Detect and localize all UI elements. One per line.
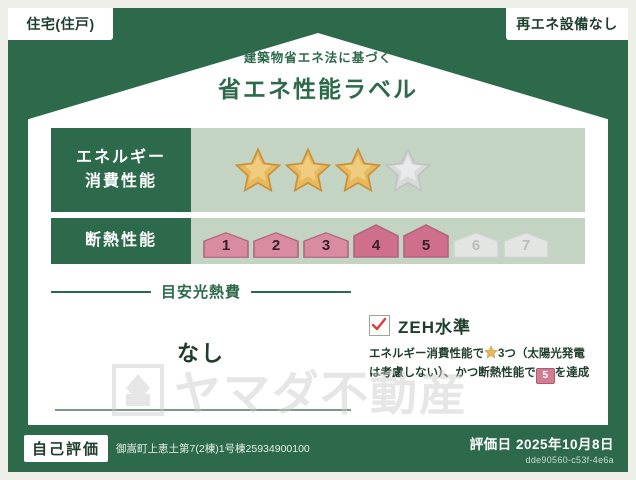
checkmark-icon [369, 315, 390, 336]
title-subtitle: 建築物省エネ法に基づく [28, 47, 608, 66]
performance-rows: エネルギー 消費性能 断熱性能 1234567 [51, 128, 585, 270]
zeh-desc-part2: は考慮しない）、かつ断熱性能で [369, 367, 536, 379]
evaluation-date: 評価日 2025年10月8日 [470, 433, 614, 453]
star-filled-icon [235, 147, 281, 193]
evaluation-hash: dde90560-c53f-4e6a [470, 455, 614, 465]
divider-right [251, 291, 351, 293]
evaluation-info: 評価日 2025年10月8日 dde90560-c53f-4e6a [470, 433, 614, 465]
utility-cost-heading-text: 目安光熱費 [151, 281, 251, 302]
zeh-desc-part3: を達成 [555, 367, 590, 379]
label-card: 住宅(住戸) 再エネ設備なし 建築物省エネ法に基づく 省エネ性能ラベル エネルギ… [8, 8, 628, 472]
star-empty-icon [385, 147, 431, 193]
zeh-description: エネルギー消費性能で 3つ（太陽光発電 は考慮しない）、かつ断熱性能で5を達成 [369, 345, 608, 384]
star-filled-icon [285, 147, 331, 193]
insulation-performance-label: 断熱性能 [51, 218, 191, 264]
insulation-scale: 1234567 [191, 218, 585, 264]
star-rating [191, 128, 585, 212]
building-type-tag: 住宅(住戸) [8, 8, 113, 40]
page-title: 省エネ性能ラベル [28, 70, 608, 104]
zeh-title: ZEH水準 [398, 313, 471, 338]
zeh-desc-starcount: 3つ（太陽光発電 [498, 348, 585, 360]
insulation-level-3: 3 [303, 232, 349, 258]
insulation-label-text: 断熱性能 [85, 229, 157, 253]
energy-label-line1: エネルギー [76, 146, 166, 170]
utility-cost-rule [55, 409, 351, 411]
zeh-desc-part1: エネルギー消費性能で [369, 348, 484, 360]
insulation-level-4: 4 [353, 224, 399, 258]
energy-consumption-label: エネルギー 消費性能 [51, 128, 191, 212]
inline-star-icon [484, 345, 498, 359]
lower-section: 目安光熱費 なし ZEH水準 エネルギー消費 [51, 281, 585, 421]
title-block: 建築物省エネ法に基づく 省エネ性能ラベル [28, 47, 608, 104]
energy-consumption-row: エネルギー 消費性能 [51, 128, 585, 212]
insulation-level-1: 1 [203, 232, 249, 258]
insulation-level-5: 5 [403, 224, 449, 258]
house-panel: 建築物省エネ法に基づく 省エネ性能ラベル エネルギー 消費性能 断熱性能 [28, 33, 608, 425]
inline-level-chip: 5 [536, 368, 555, 384]
zeh-block: ZEH水準 エネルギー消費性能で 3つ（太陽光発電 は考慮しない）、かつ断熱性能… [369, 313, 608, 384]
insulation-level-6: 6 [453, 232, 499, 258]
energy-label-line2: 消費性能 [85, 170, 157, 194]
utility-cost-heading: 目安光熱費 [51, 281, 351, 302]
self-evaluation-badge: 自己評価 [24, 435, 108, 462]
insulation-level-2: 2 [253, 232, 299, 258]
label-footer: 自己評価 御嵩町上恵土第7(2棟)1号棟25934900100 評価日 2025… [8, 425, 628, 472]
energy-performance-label: 住宅(住戸) 再エネ設備なし 建築物省エネ法に基づく 省エネ性能ラベル エネルギ… [0, 0, 636, 480]
zeh-heading: ZEH水準 [369, 313, 608, 338]
divider-left [51, 291, 151, 293]
insulation-level-7: 7 [503, 232, 549, 258]
property-address: 御嵩町上恵土第7(2棟)1号棟25934900100 [116, 441, 310, 456]
renewable-equipment-tag: 再エネ設備なし [506, 8, 628, 40]
insulation-performance-row: 断熱性能 1234567 [51, 218, 585, 264]
utility-cost-value: なし [51, 336, 351, 368]
star-filled-icon [335, 147, 381, 193]
